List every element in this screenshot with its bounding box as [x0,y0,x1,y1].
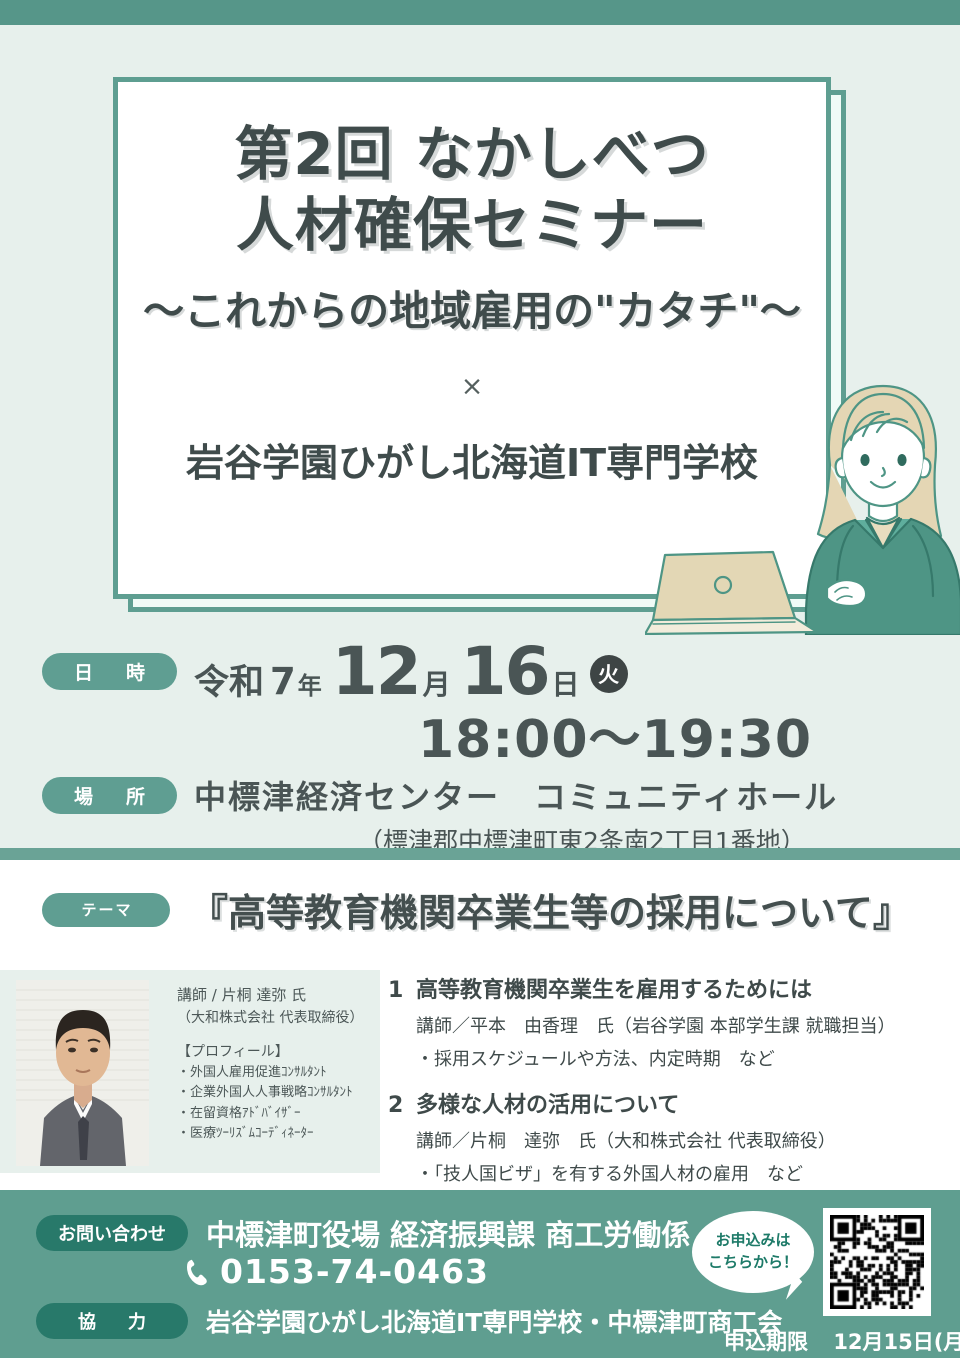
profile-item: ・在留資格ｱﾄﾞﾊﾞｲｻﾞｰ [177,1104,374,1125]
speaker-portrait-photo [0,970,165,1173]
bubble-line-1: お申込みは [715,1231,790,1249]
title-block: 第2回 なかしべつ 人材確保セミナー 〜これからの地域雇用の"カタチ"〜 × 岩… [113,77,831,599]
program-item: 1 高等教育機関卒業生を雇用するためには 講師／平本 由香理 氏（岩谷学園 本部… [388,972,948,1071]
deadline-label: 申込期限 [724,1330,808,1354]
theme-badge: テーマ [42,893,170,927]
program-lecturer: 講師／平本 由香理 氏（岩谷学園 本部学生課 就職担当） [416,1012,948,1038]
profile-item: ・外国人雇用促進ｺﾝｻﾙﾀﾝﾄ [177,1063,374,1084]
contact-organization: 中標津町役場 経済振興課 商工労働係 [206,1212,690,1254]
phone-icon [184,1257,210,1287]
contact-phone[interactable]: 0153-74-0463 [184,1252,489,1291]
top-accent-bar [0,0,960,25]
profile-heading: 【プロフィール】 [177,1042,374,1063]
profile-org: （大和株式会社 代表取締役） [177,1007,374,1029]
profile-item: ・医療ﾂｰﾘｽﾞﾑｺｰﾃﾞｨﾈｰﾀｰ [177,1124,374,1145]
date-weekday-badge: 火 [590,655,628,693]
section-divider [0,848,960,860]
date-era: 令和 [194,654,264,705]
application-deadline: 申込期限 12月15日(月) [724,1326,960,1356]
profile-name: 講師 / 片桐 達弥 氏 [177,984,374,1007]
venue-name: 中標津経済センター コミュニティホール [194,772,838,818]
profile-item: ・企業外国人人事戦略ｺﾝｻﾙﾀﾝﾄ [177,1083,374,1104]
footer-section: お問い合わせ 中標津町役場 経済振興課 商工労働係 0153-74-0463 協… [0,1190,960,1358]
cross-icon: × [113,371,831,402]
subtitle: 〜これからの地域雇用の"カタチ"〜 [113,277,831,337]
program-list: 1 高等教育機関卒業生を雇用するためには 講師／平本 由香理 氏（岩谷学園 本部… [388,972,948,1202]
program-number: 1 [388,978,416,1003]
title-line-1: 第2回 なかしべつ [113,119,831,190]
date-year: 7 [270,660,296,703]
hero-section: 第2回 なかしべつ 人材確保セミナー 〜これからの地域雇用の"カタチ"〜 × 岩… [0,25,960,848]
contact-badge: お問い合わせ [36,1215,188,1251]
event-time: 18:00〜19:30 [418,697,812,772]
place-row: 場 所 中標津経済センター コミュニティホール [42,772,838,818]
bubble-line-2: こちらから！ [708,1253,798,1271]
program-note: ・採用スケジュールや方法、内定時期 など [416,1045,948,1071]
qr-code[interactable] [823,1208,931,1316]
date-year-unit: 年 [298,666,322,701]
phone-number: 0153-74-0463 [220,1252,489,1291]
contact-row: お問い合わせ 中標津町役場 経済振興課 商工労働係 [36,1212,690,1254]
program-section: テーマ 『高等教育機関卒業生等の採用について』 [0,860,960,1190]
cooperation-text: 岩谷学園ひがし北海道IT専門学校・中標津町商工会 [206,1303,782,1339]
school-name: 岩谷学園ひがし北海道IT専門学校 [113,432,831,487]
program-item: 2 多様な人材の活用について 講師／片桐 達弥 氏（大和株式会社 代表取締役） … [388,1087,948,1186]
program-title: 高等教育機関卒業生を雇用するためには [416,972,812,1004]
bubble-text: お申込みは こちらから！ [708,1230,798,1274]
speaker-profile-text: 講師 / 片桐 達弥 氏 （大和株式会社 代表取締役） 【プロフィール】 ・外国… [165,970,380,1173]
program-title: 多様な人材の活用について [416,1087,679,1119]
place-badge: 場 所 [42,777,177,814]
theme-title: 『高等教育機関卒業生等の採用について』 [190,882,911,937]
date-badge: 日 時 [42,653,177,690]
cooperation-row: 協 力 岩谷学園ひがし北海道IT専門学校・中標津町商工会 [36,1303,782,1339]
venue-address: （標津郡中標津町東2条南2丁目1番地） [358,822,806,848]
deadline-date: 12月15日(月) [833,1330,960,1354]
program-note: ・「技人国ビザ」を有する外国人材の雇用 など [416,1160,948,1186]
poster-root: 第2回 なかしべつ 人材確保セミナー 〜これからの地域雇用の"カタチ"〜 × 岩… [0,0,960,1358]
theme-row: テーマ 『高等教育機関卒業生等の採用について』 [42,882,911,937]
title-line-2: 人材確保セミナー [113,190,831,261]
program-lecturer: 講師／片桐 達弥 氏（大和株式会社 代表取締役） [416,1127,948,1153]
speaker-profile-panel: 講師 / 片桐 達弥 氏 （大和株式会社 代表取締役） 【プロフィール】 ・外国… [0,970,380,1173]
cooperation-badge: 協 力 [36,1303,188,1339]
program-number: 2 [388,1093,416,1118]
qr-canvas [830,1215,924,1309]
date-month: 12 [332,633,420,710]
